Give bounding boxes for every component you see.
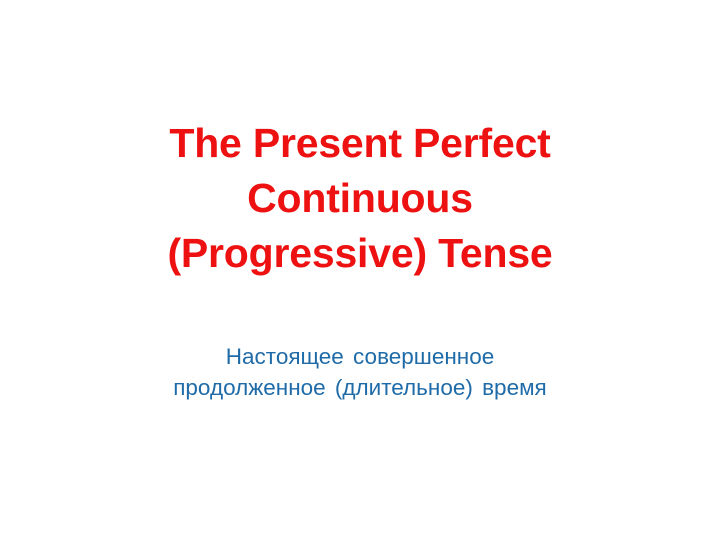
title-line-1: The Present Perfect (60, 116, 660, 171)
slide-title: The Present Perfect Continuous (Progress… (60, 116, 660, 281)
title-line-3: (Progressive) Tense (60, 226, 660, 281)
presentation-slide: The Present Perfect Continuous (Progress… (0, 0, 720, 540)
subtitle-line-1: Настоящее совершенное (60, 341, 660, 372)
slide-subtitle: Настоящее совершенное продолженное (длит… (60, 341, 660, 403)
title-line-2: Continuous (60, 171, 660, 226)
subtitle-line-2: продолженное (длительное) время (60, 372, 660, 403)
